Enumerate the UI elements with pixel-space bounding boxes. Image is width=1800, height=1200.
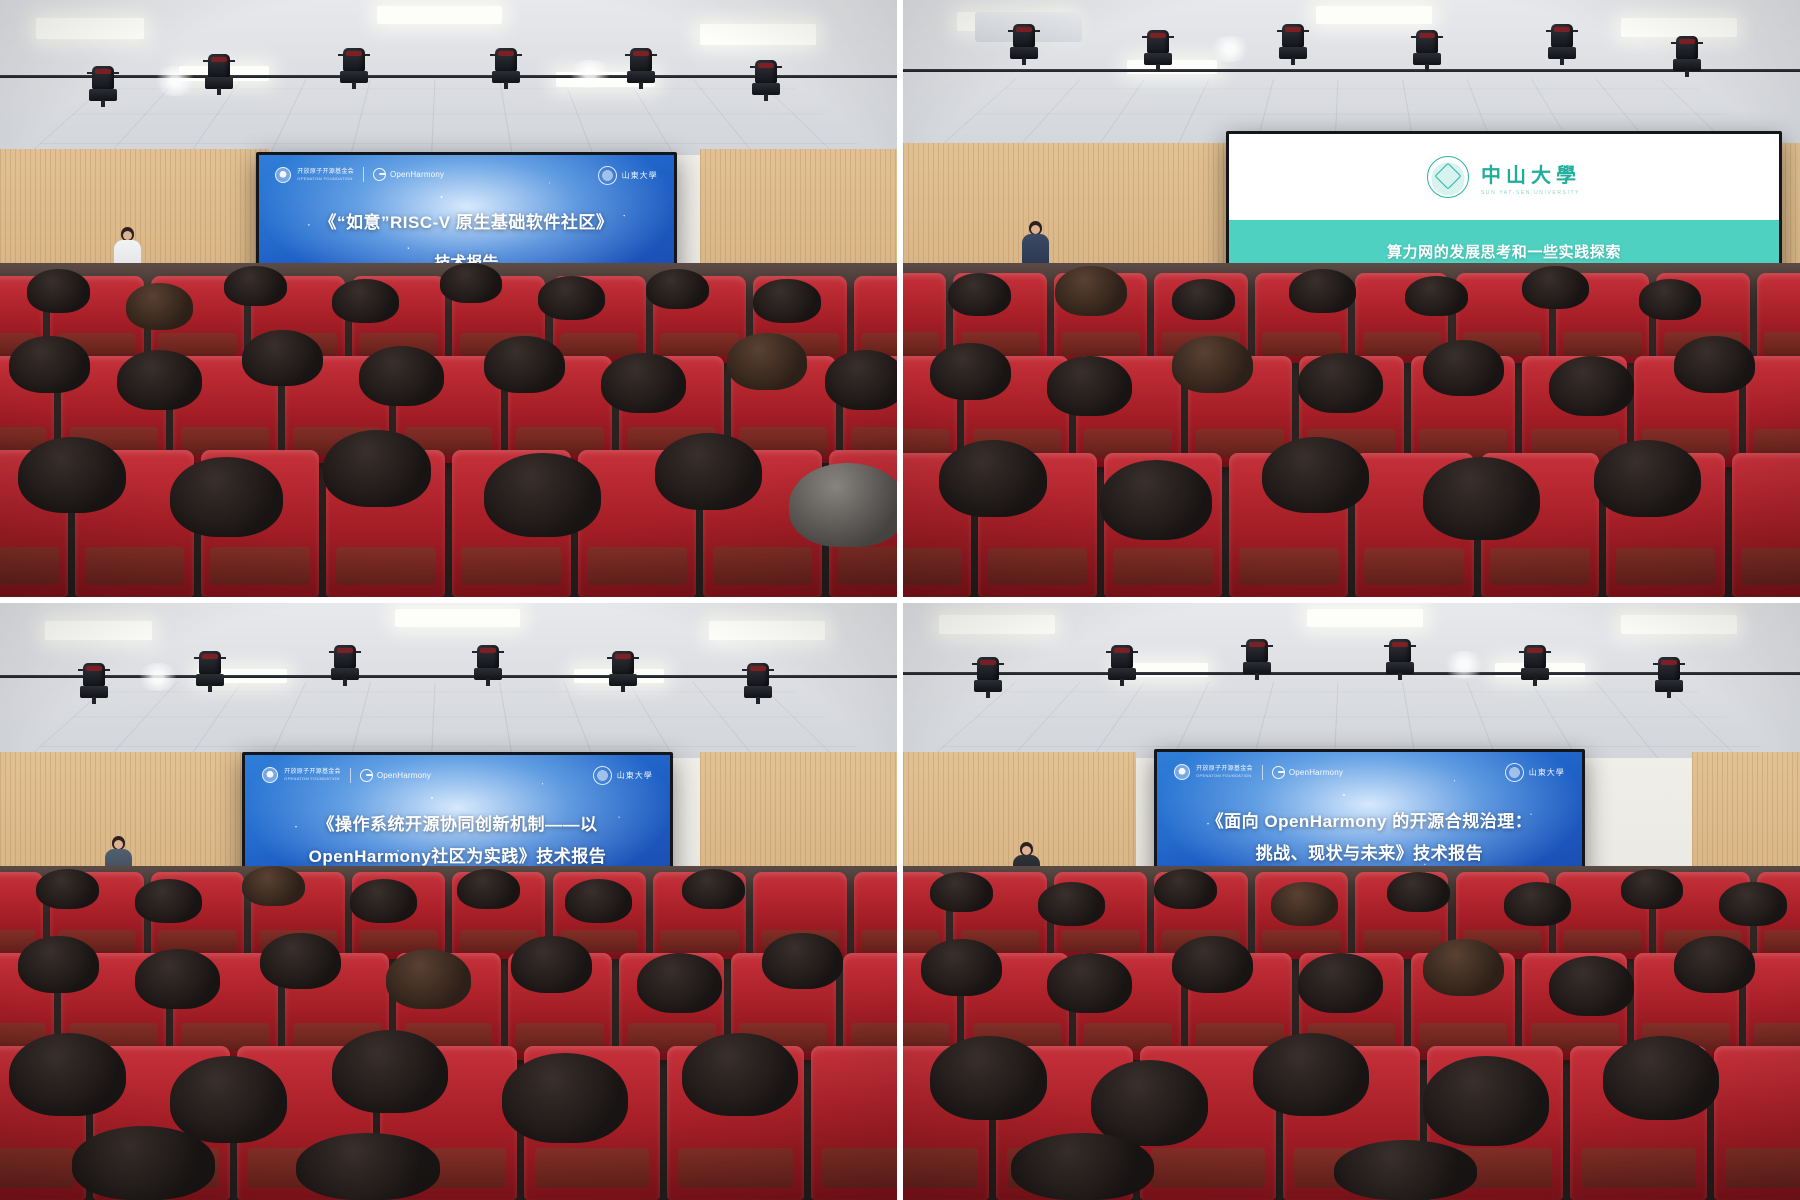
auditorium-seat bbox=[843, 953, 897, 1060]
sdu-mark-icon bbox=[1505, 763, 1524, 782]
university-name-en: SUN YAT-SEN UNIVERSITY bbox=[1481, 190, 1581, 196]
audience-head bbox=[1334, 1140, 1478, 1200]
stage-spotlight bbox=[975, 657, 1001, 697]
stage-spotlight bbox=[197, 651, 223, 691]
audience-head bbox=[502, 1053, 628, 1143]
auditorium-seat bbox=[1732, 453, 1800, 597]
audience-area bbox=[0, 866, 897, 1200]
audience-head bbox=[323, 430, 431, 507]
audience-head bbox=[332, 279, 399, 322]
stage-spotlight bbox=[341, 48, 367, 88]
audience-head bbox=[948, 273, 1011, 316]
audience-head bbox=[242, 330, 323, 387]
audience-head bbox=[1271, 882, 1338, 925]
audience-head bbox=[359, 346, 444, 406]
openharmony-mark-icon bbox=[1272, 766, 1285, 779]
audience-head bbox=[655, 433, 763, 510]
audience-head bbox=[1719, 882, 1786, 925]
slide-header: 中山大學 SUN YAT-SEN UNIVERSITY bbox=[1229, 134, 1779, 220]
panel-1-top-left: 开放原子开源基金会 OPENATOM FOUNDATION OpenHarmon… bbox=[0, 0, 897, 597]
ceiling-light bbox=[1307, 609, 1424, 627]
openharmony-label: OpenHarmony bbox=[377, 771, 431, 780]
audience-head bbox=[682, 1033, 799, 1117]
audience-head bbox=[484, 336, 565, 393]
panel-2-top-right: 中山大學 SUN YAT-SEN UNIVERSITY 算力网的发展思考和一些实… bbox=[903, 0, 1800, 597]
shandong-university-logo: 山東大學 bbox=[1505, 763, 1565, 782]
audience-head bbox=[1387, 872, 1450, 912]
audience-head bbox=[1594, 440, 1702, 517]
stage-spotlight bbox=[1011, 24, 1037, 64]
stage-spotlight bbox=[1244, 639, 1270, 679]
audience-head bbox=[1047, 953, 1132, 1013]
ceiling-light bbox=[395, 609, 521, 627]
stage-spotlight bbox=[1109, 645, 1135, 685]
auditorium-seat bbox=[1714, 1046, 1800, 1200]
audience-head bbox=[1298, 353, 1383, 413]
slide-title: 《面向 OpenHarmony 的开源合规治理： bbox=[1178, 810, 1560, 835]
stage-spotlight bbox=[1522, 645, 1548, 685]
sdu-logo-text: 山東大學 bbox=[1529, 767, 1565, 778]
audience-head bbox=[457, 869, 520, 909]
lens-flare bbox=[152, 66, 198, 96]
ceiling-light bbox=[1621, 18, 1738, 37]
shandong-university-logo: 山東大學 bbox=[593, 766, 653, 785]
auditorium-seat bbox=[854, 872, 897, 959]
audience-head bbox=[135, 949, 220, 1009]
slide-title: 《“如意”RISC-V 原生基础软件社区》 bbox=[279, 211, 653, 236]
stage-spotlight bbox=[206, 54, 232, 94]
ceiling-light bbox=[45, 621, 153, 640]
audience-head bbox=[1091, 1060, 1208, 1147]
stage-spotlight bbox=[628, 48, 654, 88]
stage-spotlight bbox=[493, 48, 519, 88]
photo-collage-grid: 开放原子开源基金会 OPENATOM FOUNDATION OpenHarmon… bbox=[0, 0, 1800, 1200]
audience-head bbox=[350, 879, 417, 922]
shandong-university-logo: 山東大學 bbox=[598, 166, 658, 185]
audience-head bbox=[72, 1126, 216, 1200]
audience-head bbox=[727, 333, 808, 390]
openharmony-label: OpenHarmony bbox=[1289, 768, 1343, 777]
seat-row bbox=[0, 872, 897, 959]
audience-head bbox=[1504, 882, 1571, 925]
stage-spotlight bbox=[1145, 30, 1171, 70]
lens-flare bbox=[1441, 651, 1487, 679]
audience-head bbox=[9, 1033, 126, 1117]
openatom-mark-icon bbox=[262, 767, 278, 783]
lens-flare bbox=[1208, 36, 1252, 62]
sun-yat-sen-seal-icon bbox=[1427, 156, 1469, 198]
openatom-logo-text-en: OPENATOM FOUNDATION bbox=[297, 176, 354, 181]
audience-head bbox=[1262, 437, 1370, 514]
audience-head bbox=[511, 936, 592, 993]
audience-head bbox=[1423, 1056, 1549, 1146]
slide-title: 算力网的发展思考和一些实践探索 bbox=[1387, 241, 1621, 262]
panel-3-bottom-left: 开放原子开源基金会 OPENATOM FOUNDATION OpenHarmon… bbox=[0, 603, 897, 1200]
stage-spotlight bbox=[1656, 657, 1682, 697]
audience-head bbox=[1100, 460, 1212, 540]
openharmony-logo: OpenHarmony bbox=[1272, 766, 1343, 779]
openatom-logo-text-cn: 开放原子开源基金会 bbox=[297, 169, 354, 177]
sdu-logo-text: 山東大學 bbox=[622, 170, 658, 181]
openharmony-mark-icon bbox=[373, 168, 386, 181]
audience-head bbox=[440, 263, 503, 303]
audience-head bbox=[9, 336, 90, 393]
audience-head bbox=[1621, 869, 1684, 909]
openatom-mark-icon bbox=[1174, 764, 1190, 780]
audience-head bbox=[565, 879, 632, 922]
audience-head bbox=[939, 440, 1047, 517]
audience-head bbox=[170, 457, 282, 537]
openatom-foundation-logo: 开放原子开源基金会 OPENATOM FOUNDATION OpenHarmon… bbox=[275, 167, 444, 183]
ceiling-light bbox=[709, 621, 826, 640]
stage-spotlight bbox=[610, 651, 636, 691]
ceiling-light bbox=[377, 6, 503, 24]
auditorium-seat bbox=[1757, 273, 1800, 363]
audience-head bbox=[1172, 336, 1253, 393]
audience-head bbox=[1289, 269, 1356, 312]
audience-head bbox=[1603, 1036, 1720, 1120]
ceiling-light bbox=[939, 615, 1056, 634]
audience-head bbox=[126, 283, 193, 330]
audience-head bbox=[1522, 266, 1589, 309]
audience-head bbox=[1038, 882, 1105, 925]
stage-spotlight bbox=[753, 60, 779, 100]
ceiling-light bbox=[1316, 6, 1433, 24]
audience-area bbox=[903, 866, 1800, 1200]
auditorium-seat bbox=[811, 1046, 897, 1200]
audience-head bbox=[1154, 869, 1217, 909]
audience-head bbox=[1011, 1133, 1155, 1200]
audience-head bbox=[170, 1056, 287, 1143]
lighting-truss bbox=[903, 69, 1800, 72]
audience-head bbox=[36, 869, 99, 909]
openatom-foundation-logo: 开放原子开源基金会 OPENATOM FOUNDATION OpenHarmon… bbox=[1174, 764, 1343, 780]
ceiling-light bbox=[36, 18, 144, 39]
audience-head bbox=[1055, 266, 1127, 316]
audience-head bbox=[27, 269, 90, 312]
audience-head bbox=[135, 879, 202, 922]
openatom-mark-icon bbox=[275, 167, 291, 183]
audience-head bbox=[117, 350, 202, 410]
stage-spotlight bbox=[745, 663, 771, 703]
audience-area bbox=[903, 263, 1800, 597]
audience-head bbox=[1423, 340, 1504, 397]
openatom-logo-text-cn: 开放原子开源基金会 bbox=[284, 769, 341, 777]
sdu-logo-text: 山東大學 bbox=[617, 770, 653, 781]
sdu-mark-icon bbox=[598, 166, 617, 185]
seat-row bbox=[0, 450, 897, 597]
stage-spotlight bbox=[90, 66, 116, 106]
audience-head bbox=[1674, 336, 1755, 393]
audience-head bbox=[753, 279, 820, 322]
audience-head bbox=[224, 266, 287, 306]
audience-head bbox=[930, 343, 1011, 400]
openharmony-logo: OpenHarmony bbox=[360, 769, 431, 782]
audience-head bbox=[18, 936, 99, 993]
audience-head bbox=[1549, 356, 1634, 416]
stage-spotlight bbox=[475, 645, 501, 685]
ceiling-light bbox=[1127, 60, 1217, 74]
openharmony-label: OpenHarmony bbox=[390, 170, 444, 179]
audience-head bbox=[1298, 953, 1383, 1013]
audience-head bbox=[921, 939, 1002, 996]
audience-head bbox=[1172, 936, 1253, 993]
audience-head bbox=[386, 949, 471, 1009]
stage-spotlight bbox=[1280, 24, 1306, 64]
openatom-logo-text-cn: 开放原子开源基金会 bbox=[1196, 766, 1253, 774]
audience-head bbox=[296, 1133, 440, 1200]
audience-head bbox=[930, 1036, 1047, 1120]
audience-head bbox=[484, 453, 601, 537]
auditorium-seat bbox=[903, 273, 946, 363]
audience-head bbox=[332, 1030, 449, 1114]
openharmony-logo: OpenHarmony bbox=[373, 168, 444, 181]
openharmony-mark-icon bbox=[360, 769, 373, 782]
university-name-cn: 中山大學 bbox=[1481, 159, 1581, 188]
stage-spotlight bbox=[1674, 36, 1700, 76]
slide-subtitle: 挑战、现状与未来》技术报告 bbox=[1178, 842, 1560, 867]
lens-flare bbox=[565, 60, 615, 88]
audience-area bbox=[0, 263, 897, 597]
stage-spotlight bbox=[1387, 639, 1413, 679]
audience-head bbox=[242, 866, 305, 906]
stage-spotlight bbox=[1549, 24, 1575, 64]
audience-head bbox=[1405, 276, 1468, 316]
audience-head bbox=[18, 437, 126, 514]
audience-head bbox=[1172, 279, 1235, 319]
audience-head bbox=[646, 269, 709, 309]
audience-head bbox=[260, 933, 341, 990]
audience-head bbox=[1549, 956, 1634, 1016]
sdu-mark-icon bbox=[593, 766, 612, 785]
audience-head bbox=[637, 953, 722, 1013]
stage-spotlight bbox=[1414, 30, 1440, 70]
slide-title: 《操作系统开源协同创新机制——以 bbox=[266, 813, 648, 838]
openatom-foundation-logo: 开放原子开源基金会 OPENATOM FOUNDATION OpenHarmon… bbox=[262, 767, 431, 783]
openatom-logo-text-en: OPENATOM FOUNDATION bbox=[284, 776, 341, 781]
ceiling-light bbox=[1621, 615, 1738, 634]
audience-head bbox=[1423, 457, 1540, 541]
audience-head bbox=[1423, 939, 1504, 996]
audience-head bbox=[789, 463, 897, 547]
audience-head bbox=[682, 869, 745, 909]
audience-head bbox=[1674, 936, 1755, 993]
audience-head bbox=[601, 353, 686, 413]
lens-flare bbox=[135, 663, 181, 691]
audience-head bbox=[1253, 1033, 1370, 1117]
stage-spotlight bbox=[81, 663, 107, 703]
openatom-logo-text-en: OPENATOM FOUNDATION bbox=[1196, 773, 1253, 778]
audience-head bbox=[1047, 356, 1132, 416]
audience-head bbox=[825, 350, 897, 410]
audience-head bbox=[538, 276, 605, 319]
panel-4-bottom-right: 开放原子开源基金会 OPENATOM FOUNDATION OpenHarmon… bbox=[903, 603, 1800, 1200]
stage-spotlight bbox=[332, 645, 358, 685]
audience-head bbox=[1639, 279, 1702, 319]
audience-head bbox=[762, 933, 843, 990]
ceiling-light bbox=[700, 24, 817, 45]
audience-head bbox=[930, 872, 993, 912]
